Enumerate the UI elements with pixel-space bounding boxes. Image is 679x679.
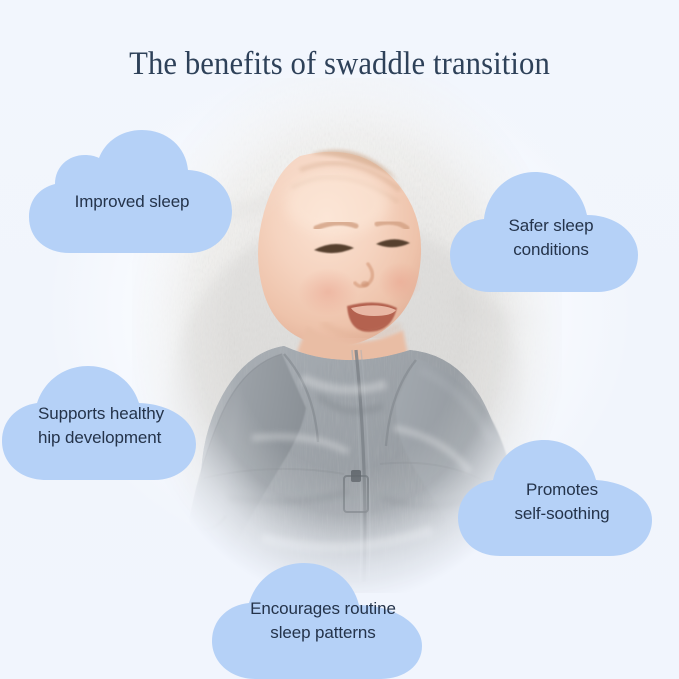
infographic-canvas: The benefits of swaddle transition Impro… xyxy=(0,0,679,679)
cloud-shape-icon xyxy=(210,561,436,679)
cloud-shape-icon xyxy=(27,131,237,254)
benefit-cloud-safer-sleep[interactable]: Safer sleep conditions xyxy=(448,170,654,293)
benefit-cloud-self-soothing[interactable]: Promotes self-soothing xyxy=(456,434,668,557)
benefit-cloud-improved-sleep[interactable]: Improved sleep xyxy=(27,131,237,254)
benefit-cloud-hip-development[interactable]: Supports healthy hip development xyxy=(0,358,212,481)
cloud-shape-icon xyxy=(456,434,668,557)
cloud-shape-icon xyxy=(448,170,654,293)
page-title: The benefits of swaddle transition xyxy=(24,46,655,83)
benefit-cloud-routine-sleep[interactable]: Encourages routine sleep patterns xyxy=(210,561,436,679)
cloud-shape-icon xyxy=(0,358,212,481)
